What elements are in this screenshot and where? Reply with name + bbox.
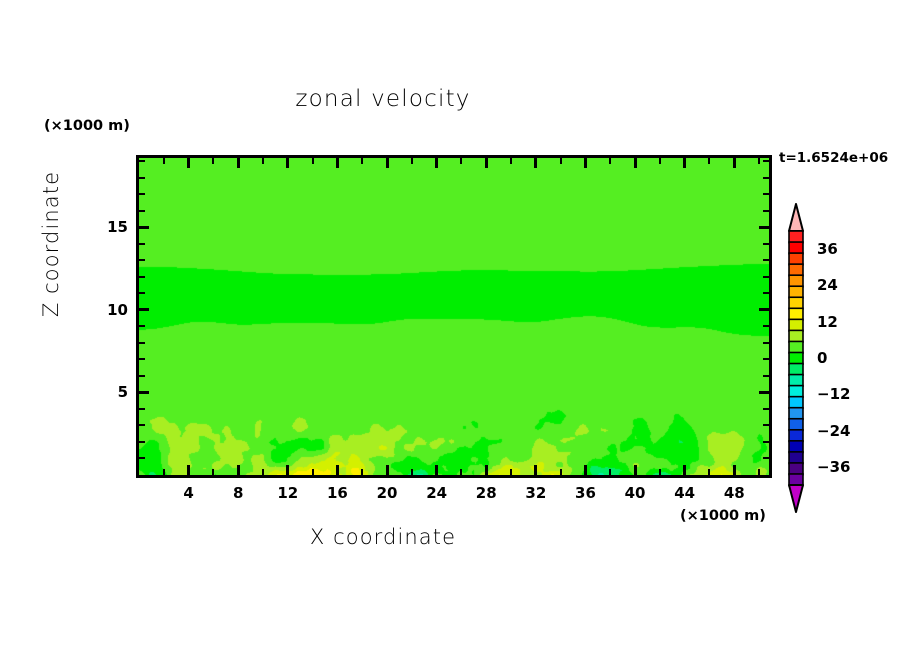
x-tick-major-top bbox=[733, 158, 736, 168]
x-tick-minor bbox=[361, 469, 363, 475]
y-tick-minor-right bbox=[763, 424, 769, 426]
colorbar-tick-label: 36 bbox=[817, 240, 838, 258]
colorbar-band bbox=[789, 386, 803, 398]
y-tick-minor bbox=[139, 424, 145, 426]
y-tick-minor-right bbox=[763, 408, 769, 410]
x-tick-minor-top bbox=[659, 158, 661, 164]
y-tick-minor-right bbox=[763, 457, 769, 459]
colorbar-under-cap bbox=[789, 485, 803, 512]
x-tick-major bbox=[336, 465, 339, 475]
colorbar-band bbox=[789, 352, 803, 364]
x-tick-major bbox=[634, 465, 637, 475]
x-tick-minor-top bbox=[212, 158, 214, 164]
colorbar-band bbox=[789, 319, 803, 331]
x-tick-minor bbox=[212, 469, 214, 475]
x-tick-major-top bbox=[237, 158, 240, 168]
colorbar-band bbox=[789, 264, 803, 276]
x-tick-label: 16 bbox=[327, 484, 348, 502]
y-tick-major bbox=[139, 226, 149, 229]
y-tick-minor bbox=[139, 177, 145, 179]
y-tick-minor bbox=[139, 457, 145, 459]
x-tick-minor bbox=[758, 469, 760, 475]
colorbar-band bbox=[789, 375, 803, 387]
x-tick-minor-top bbox=[163, 158, 165, 164]
x-tick-label: 8 bbox=[233, 484, 243, 502]
y-tick-major bbox=[139, 391, 149, 394]
y-tick-minor-right bbox=[763, 177, 769, 179]
y-tick-minor-right bbox=[763, 276, 769, 278]
colorbar-band bbox=[789, 253, 803, 265]
colorbar-band bbox=[789, 297, 803, 309]
x-tick-label: 44 bbox=[674, 484, 695, 502]
x-tick-major bbox=[584, 465, 587, 475]
x-tick-minor-top bbox=[609, 158, 611, 164]
x-tick-minor bbox=[312, 469, 314, 475]
y-axis-title: Z coordinate bbox=[39, 129, 63, 359]
x-tick-minor-top bbox=[560, 158, 562, 164]
y-tick-major bbox=[139, 308, 149, 311]
y-tick-minor-right bbox=[763, 259, 769, 261]
x-tick-major bbox=[386, 465, 389, 475]
x-tick-major bbox=[485, 465, 488, 475]
y-tick-minor-right bbox=[763, 441, 769, 443]
x-tick-major-top bbox=[683, 158, 686, 168]
x-tick-minor-top bbox=[510, 158, 512, 164]
x-tick-label: 32 bbox=[525, 484, 546, 502]
x-tick-major bbox=[237, 465, 240, 475]
colorbar-band bbox=[789, 408, 803, 420]
x-tick-label: 36 bbox=[575, 484, 596, 502]
x-tick-major-top bbox=[336, 158, 339, 168]
x-tick-minor-top bbox=[262, 158, 264, 164]
x-tick-major-top bbox=[386, 158, 389, 168]
x-tick-minor-top bbox=[708, 158, 710, 164]
x-tick-minor bbox=[560, 469, 562, 475]
x-axis-title: X coordinate bbox=[0, 525, 766, 549]
y-tick-label: 5 bbox=[92, 383, 128, 401]
y-tick-minor bbox=[139, 408, 145, 410]
y-tick-label: 15 bbox=[92, 218, 128, 236]
x-tick-label: 48 bbox=[724, 484, 745, 502]
y-tick-minor bbox=[139, 259, 145, 261]
y-tick-major-right bbox=[759, 391, 769, 394]
x-tick-major bbox=[187, 465, 190, 475]
y-tick-label: 10 bbox=[92, 301, 128, 319]
y-tick-minor-right bbox=[763, 292, 769, 294]
colorbar-band bbox=[789, 242, 803, 254]
x-tick-major-top bbox=[286, 158, 289, 168]
colorbar-band bbox=[789, 430, 803, 442]
y-tick-minor bbox=[139, 325, 145, 327]
colorbar-band bbox=[789, 463, 803, 475]
y-tick-minor-right bbox=[763, 210, 769, 212]
x-tick-label: 24 bbox=[426, 484, 447, 502]
x-tick-major-top bbox=[187, 158, 190, 168]
x-tick-label: 4 bbox=[183, 484, 193, 502]
colorbar-band bbox=[789, 364, 803, 376]
y-tick-minor bbox=[139, 292, 145, 294]
x-tick-minor bbox=[163, 469, 165, 475]
x-tick-minor-top bbox=[361, 158, 363, 164]
colorbar-tick-label: −36 bbox=[817, 458, 850, 476]
colorbar-band bbox=[789, 441, 803, 453]
y-tick-minor bbox=[139, 441, 145, 443]
colorbar-band bbox=[789, 330, 803, 342]
x-tick-minor bbox=[411, 469, 413, 475]
contour-field-canvas bbox=[139, 158, 769, 475]
x-tick-minor bbox=[609, 469, 611, 475]
y-tick-minor bbox=[139, 193, 145, 195]
y-tick-minor-right bbox=[763, 243, 769, 245]
colorbar-tick-label: 12 bbox=[817, 313, 838, 331]
x-tick-minor bbox=[708, 469, 710, 475]
colorbar-band bbox=[789, 474, 803, 486]
colorbar-tick-label: 24 bbox=[817, 276, 838, 294]
x-tick-minor-top bbox=[758, 158, 760, 164]
colorbar-band bbox=[789, 341, 803, 353]
y-tick-major-right bbox=[759, 226, 769, 229]
timestamp-annotation: t=1.6524e+06 bbox=[779, 150, 888, 166]
x-tick-major-top bbox=[435, 158, 438, 168]
x-tick-major bbox=[683, 465, 686, 475]
y-tick-major-right bbox=[759, 308, 769, 311]
colorbar-band bbox=[789, 397, 803, 409]
y-tick-minor-right bbox=[763, 193, 769, 195]
x-tick-minor-top bbox=[312, 158, 314, 164]
colorbar-tick-label: −12 bbox=[817, 385, 850, 403]
colorbar-band bbox=[789, 308, 803, 320]
y-tick-minor-right bbox=[763, 342, 769, 344]
y-tick-minor bbox=[139, 210, 145, 212]
colorbar-band bbox=[789, 419, 803, 431]
x-tick-major-top bbox=[534, 158, 537, 168]
x-tick-major bbox=[733, 465, 736, 475]
x-tick-minor-top bbox=[411, 158, 413, 164]
contour-plot-area bbox=[136, 155, 772, 478]
colorbar-band bbox=[789, 275, 803, 287]
colorbar-band bbox=[789, 231, 803, 243]
colorbar-band bbox=[789, 286, 803, 298]
x-tick-major bbox=[286, 465, 289, 475]
x-tick-minor bbox=[659, 469, 661, 475]
x-tick-label: 20 bbox=[377, 484, 398, 502]
x-tick-major-top bbox=[634, 158, 637, 168]
x-axis-unit-label: (×1000 m) bbox=[680, 508, 766, 524]
x-tick-minor-top bbox=[460, 158, 462, 164]
x-tick-minor bbox=[262, 469, 264, 475]
y-tick-minor bbox=[139, 243, 145, 245]
x-tick-label: 12 bbox=[277, 484, 298, 502]
y-tick-minor bbox=[139, 375, 145, 377]
x-tick-label: 28 bbox=[476, 484, 497, 502]
y-tick-minor-right bbox=[763, 325, 769, 327]
colorbar: 3624120−12−24−36 bbox=[781, 203, 811, 513]
colorbar-tick-label: 0 bbox=[817, 349, 827, 367]
y-tick-minor bbox=[139, 160, 145, 162]
y-tick-minor bbox=[139, 358, 145, 360]
colorbar-swatches bbox=[781, 203, 811, 513]
y-tick-minor-right bbox=[763, 358, 769, 360]
x-tick-label: 40 bbox=[625, 484, 646, 502]
y-tick-minor-right bbox=[763, 160, 769, 162]
colorbar-tick-label: −24 bbox=[817, 422, 850, 440]
y-tick-minor bbox=[139, 342, 145, 344]
x-tick-major bbox=[534, 465, 537, 475]
x-tick-major-top bbox=[584, 158, 587, 168]
x-tick-minor bbox=[460, 469, 462, 475]
x-tick-major-top bbox=[485, 158, 488, 168]
y-tick-minor bbox=[139, 276, 145, 278]
colorbar-band bbox=[789, 452, 803, 464]
x-tick-minor bbox=[510, 469, 512, 475]
page-title: zonal velocity bbox=[0, 86, 766, 112]
y-tick-minor-right bbox=[763, 375, 769, 377]
colorbar-over-cap bbox=[789, 204, 803, 231]
x-tick-major bbox=[435, 465, 438, 475]
